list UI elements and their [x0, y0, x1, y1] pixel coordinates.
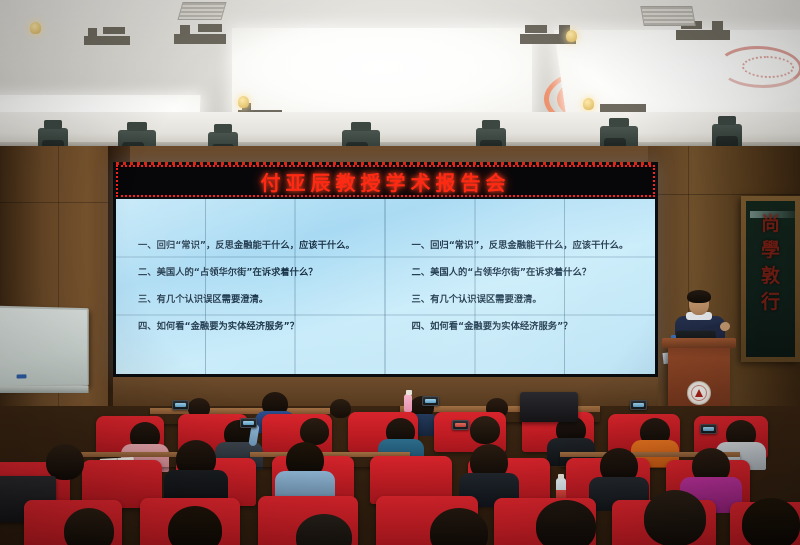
audience-member: [386, 418, 415, 445]
audience-member: [536, 500, 596, 545]
audience-member: [640, 418, 670, 446]
whiteboard[interactable]: [0, 306, 89, 389]
ceiling-vent: [177, 2, 226, 20]
plaque-char: 行: [761, 293, 780, 312]
slide-bullet: 三、有几个认识误区需要澄清。: [138, 294, 386, 306]
water-bottle: [404, 394, 412, 412]
lecture-hall-scene: 尚 學 敦 行 付亚辰教授学术报告会 一、回归“常识”，反思金融能干什么，应该干…: [0, 0, 800, 545]
calligraphy-plaque: 尚 學 敦 行: [741, 196, 800, 362]
whiteboard-tray: [0, 386, 89, 393]
slide-half-right: 一、回归“常识”，反思金融能干什么，应该干什么。 二、美国人的“占领华尔街”在诉…: [386, 199, 656, 374]
presentation-slide: 一、回归“常识”，反思金融能干什么，应该干什么。 二、美国人的“占领华尔街”在诉…: [116, 199, 655, 374]
audience-member: [46, 444, 84, 480]
smartphone[interactable]: [422, 396, 439, 406]
plaque-characters: 尚 學 敦 行: [761, 215, 780, 312]
slide-bullet: 二、美国人的“占领华尔街”在诉求着什么？: [412, 267, 656, 279]
audience-member: [742, 498, 800, 545]
slide-bullet: 一、回归“常识”，反思金融能干什么，应该干什么。: [412, 240, 656, 252]
audience-member: [262, 392, 288, 416]
audience-member: [296, 514, 352, 545]
audience-member: [300, 418, 329, 445]
speaker-hair: [687, 290, 711, 303]
university-crest-icon: [687, 381, 711, 405]
plaque-char: 尚: [761, 215, 780, 234]
ceiling-light-panel-center: [232, 28, 532, 116]
slide-bullet: 二、美国人的“占领华尔街”在诉求着什么？: [138, 267, 386, 279]
audience-member: [470, 444, 508, 480]
led-title-banner: 付亚辰教授学术报告会: [116, 165, 655, 197]
backpack: [520, 392, 578, 422]
smartphone[interactable]: [452, 420, 469, 430]
audience-member: [330, 399, 351, 418]
plaque-char: 學: [761, 241, 780, 260]
slide-bullet: 四、如何看“金融要为实体经济服务”？: [412, 321, 656, 333]
slide-bullet: 一、回归“常识”，反思金融能干什么，应该干什么。: [138, 240, 386, 252]
smartphone[interactable]: [240, 418, 257, 428]
slide-half-left: 一、回归“常识”，反思金融能干什么，应该干什么。 二、美国人的“占领华尔街”在诉…: [116, 199, 386, 374]
audience-member: [130, 422, 160, 450]
audience-member: [286, 442, 324, 478]
smartphone[interactable]: [172, 400, 189, 410]
slide-bullet: 四、如何看“金融要为实体经济服务”？: [138, 321, 386, 333]
ceiling: [0, 0, 800, 118]
audience-member: [644, 490, 706, 545]
audience-member: [692, 448, 730, 484]
audience-member: [470, 416, 500, 444]
audience-member: [430, 508, 488, 545]
ceiling-bulb-icon: [30, 22, 41, 34]
led-video-wall[interactable]: 付亚辰教授学术报告会 一、回归“常识”，反思金融能干什么，应该干什么。 二、美国…: [113, 162, 658, 377]
slide-bullet: 三、有几个认识误区需要澄清。: [412, 294, 656, 306]
podium-top: [662, 338, 736, 348]
ceiling-bulb-icon: [238, 96, 249, 108]
ceiling-bulb-icon: [566, 30, 577, 42]
ceiling-bracket: [84, 36, 130, 45]
ceiling-bracket: [676, 30, 730, 40]
audience-member: [726, 420, 756, 448]
smartphone[interactable]: [630, 400, 647, 410]
whiteboard-marker-icon: [17, 374, 27, 378]
audience-member: [176, 440, 216, 478]
audience-member: [600, 448, 638, 484]
plaque-char: 敦: [761, 267, 780, 286]
audience-member: [64, 508, 114, 545]
event-title: 付亚辰教授学术报告会: [261, 167, 511, 196]
audience-member: [168, 506, 222, 545]
ceiling-bulb-icon: [583, 98, 594, 110]
ceiling-bracket: [174, 34, 226, 44]
smartphone[interactable]: [700, 424, 717, 434]
ceiling-vent: [640, 6, 696, 26]
